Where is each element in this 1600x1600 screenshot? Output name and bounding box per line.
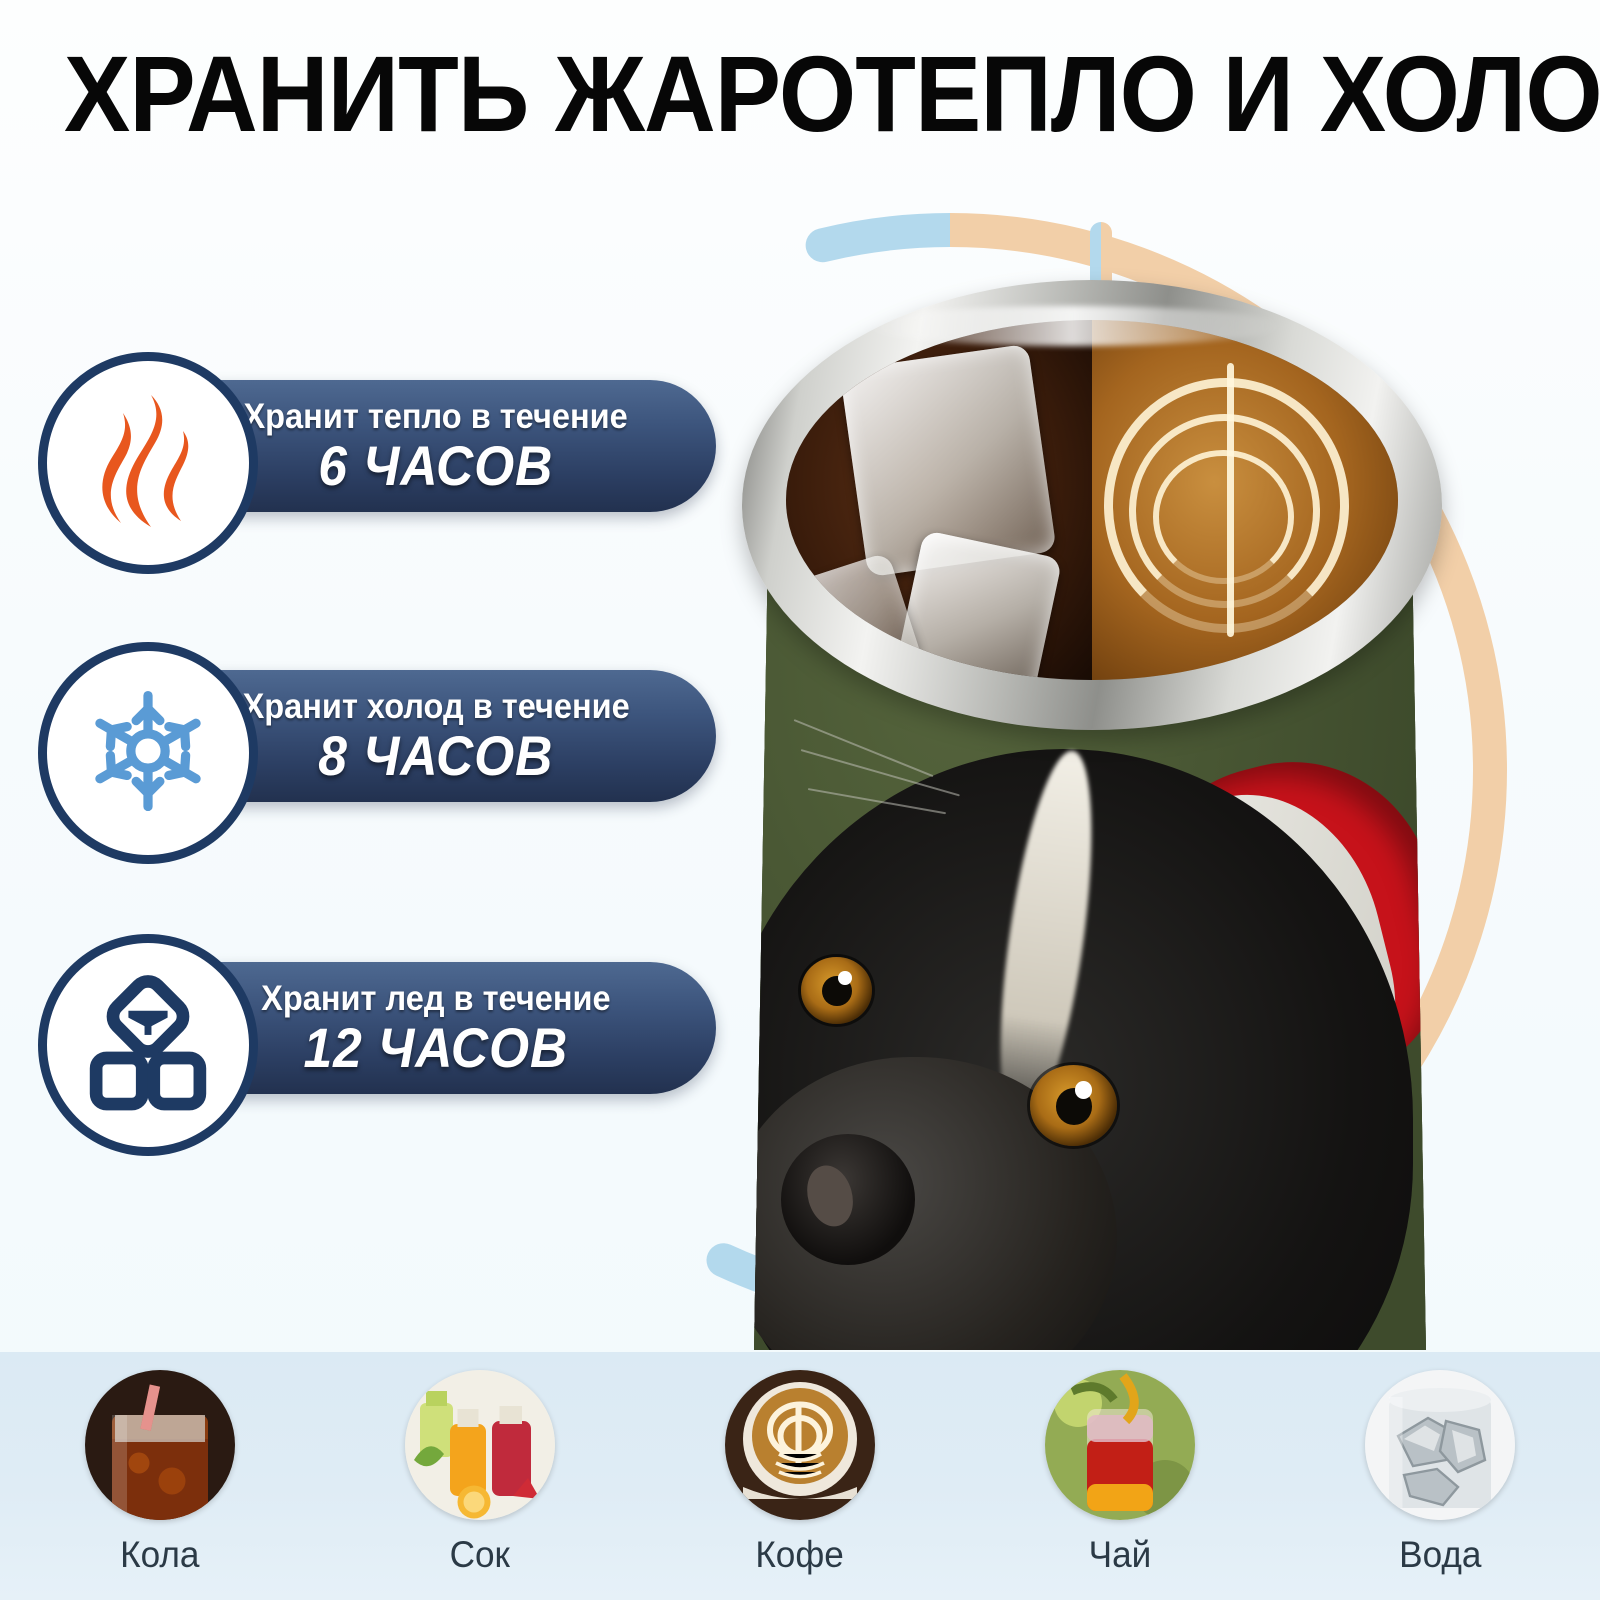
dog-eye-glint-left: [838, 971, 852, 986]
drink-item-cola: Кола: [50, 1370, 270, 1576]
latte-cup-icon: [725, 1370, 875, 1520]
feature-caption: Хранит тепло в течение: [244, 399, 628, 434]
hot-latte-half: [1092, 320, 1398, 680]
drink-item-coffee: Кофе: [690, 1370, 910, 1576]
drink-label: Кола: [120, 1534, 199, 1576]
feature-icon-circle-ice: [38, 934, 258, 1156]
dog-eye-glint-right: [1075, 1081, 1092, 1099]
drink-label: Кофе: [756, 1534, 844, 1576]
cola-glass-icon: [85, 1370, 235, 1520]
feature-row-cold: Хранит холод в течение 8 ЧАСОВ: [38, 642, 758, 864]
infographic-canvas: ХРАНИТЬ ЖАРОТЕПЛО И ХОЛОД: [0, 0, 1600, 1600]
product-tumbler: [742, 280, 1442, 1355]
feature-duration: 8 ЧАСОВ: [318, 728, 553, 784]
feature-row-heat: Хранит тепло в течение 6 ЧАСОВ: [38, 352, 758, 574]
drink-label: Сок: [450, 1534, 510, 1576]
drinks-band: Кола: [0, 1352, 1600, 1600]
drink-item-juice: Сок: [370, 1370, 590, 1576]
dog-eye-right: [1030, 1065, 1117, 1146]
drinks-list: Кола: [0, 1352, 1600, 1600]
dog-eye-left: [801, 957, 872, 1023]
snowflake-icon: [82, 685, 214, 822]
rim-highlight: [862, 306, 1282, 346]
feature-duration: 6 ЧАСОВ: [318, 438, 553, 494]
drink-item-water: Вода: [1330, 1370, 1550, 1576]
feature-icon-circle-cold: [38, 642, 258, 864]
iced-coffee-half: [786, 320, 1092, 680]
feature-row-ice: Хранит лед в течение 12 ЧАСОВ: [38, 934, 758, 1156]
drink-label: Чай: [1089, 1534, 1152, 1576]
page-title: ХРАНИТЬ ЖАРОТЕПЛО И ХОЛОД: [64, 40, 1536, 148]
latte-art-ring: [1153, 450, 1294, 584]
ice-cube-icon: [84, 975, 212, 1116]
latte-art-stem: [1227, 363, 1234, 637]
drink-label: Вода: [1399, 1534, 1481, 1576]
feature-caption: Хранит лед в течение: [261, 981, 610, 1016]
drink-item-tea: Чай: [1010, 1370, 1230, 1576]
tumbler-opening: [786, 320, 1398, 680]
ice-water-glass-icon: [1365, 1370, 1515, 1520]
juice-bottles-icon: [405, 1370, 555, 1520]
feature-icon-circle-heat: [38, 352, 258, 574]
feature-duration: 12 ЧАСОВ: [304, 1020, 569, 1076]
iced-tea-glass-icon: [1045, 1370, 1195, 1520]
feature-caption: Хранит холод в течение: [242, 689, 629, 724]
heat-waves-icon: [85, 391, 211, 536]
tumbler-rim: [742, 280, 1442, 760]
